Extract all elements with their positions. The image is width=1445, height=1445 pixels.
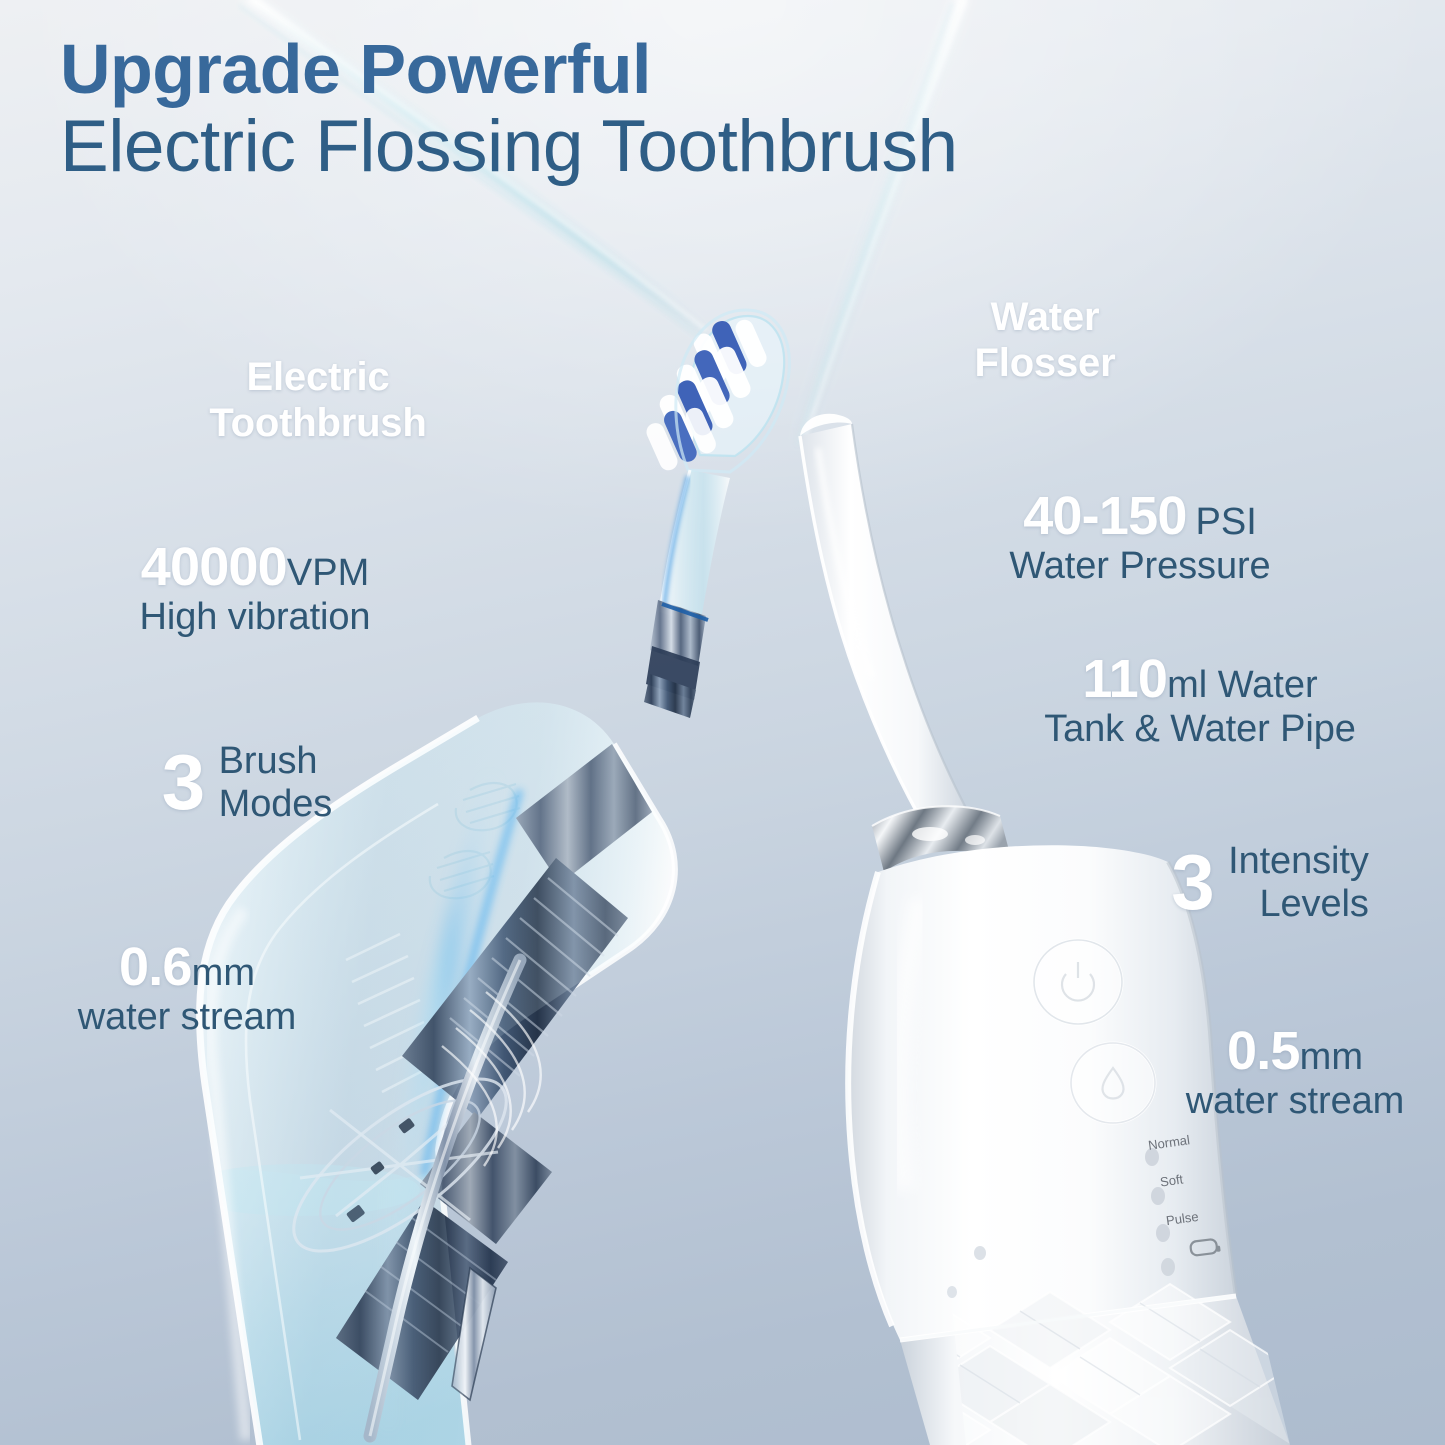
toothbrush-label-line1: Electric [128, 355, 508, 401]
mode-label-soft: Soft [1159, 1171, 1184, 1189]
spec-brush-modes: 3 Brush Modes [82, 740, 412, 825]
spec-intensity-desc2: Levels [1228, 883, 1369, 926]
spec-water-tank-desc: Tank & Water Pipe [1000, 708, 1400, 751]
spec-flosser-stream-desc: water stream [1150, 1080, 1440, 1123]
spec-water-tank-unit: ml Water [1167, 664, 1318, 706]
spec-water-pressure-desc: Water Pressure [945, 545, 1335, 588]
spec-flosser-stream-value: 0.5 [1227, 1021, 1300, 1081]
spec-toothbrush-stream-desc: water stream [42, 996, 332, 1039]
headline-line-2: Electric Flossing Toothbrush [60, 105, 1390, 190]
spec-water-pressure-unit: PSI [1196, 501, 1257, 543]
product-label-flosser: Water Flosser [905, 295, 1185, 386]
toothbrush-label-line2: Toothbrush [128, 401, 508, 447]
spec-water-pressure-value: 40-150 [1023, 486, 1186, 546]
spec-water-tank: 110ml Water Tank & Water Pipe [1000, 650, 1400, 751]
spec-vibration: 40000VPM High vibration [60, 538, 450, 639]
spec-flosser-stream-unit: mm [1300, 1036, 1363, 1078]
headline-line-1: Upgrade Powerful [60, 34, 1390, 105]
spec-brush-modes-value: 3 [162, 747, 204, 817]
spec-brush-modes-desc2: Modes [219, 783, 333, 826]
spec-vibration-unit: VPM [287, 552, 369, 594]
spec-toothbrush-stream-value: 0.6 [119, 937, 192, 997]
page-title: Upgrade Powerful Electric Flossing Tooth… [60, 34, 1390, 190]
flosser-label-line1: Water [905, 295, 1185, 341]
spec-vibration-value: 40000 [141, 537, 287, 597]
spec-toothbrush-stream-unit: mm [192, 952, 255, 994]
spec-brush-modes-desc1: Brush [219, 740, 333, 783]
spec-toothbrush-stream: 0.6mm water stream [42, 938, 332, 1039]
spec-flosser-stream: 0.5mm water stream [1150, 1022, 1440, 1123]
spec-intensity-value: 3 [1171, 847, 1213, 917]
product-infographic: Normal Soft Pulse Upgrade Powerful Elect… [0, 0, 1445, 1445]
spec-intensity-levels: 3 Intensity Levels [1110, 840, 1430, 925]
spec-water-tank-value: 110 [1082, 649, 1167, 709]
spec-intensity-desc1: Intensity [1228, 840, 1369, 883]
flosser-label-line2: Flosser [905, 341, 1185, 387]
product-label-toothbrush: Electric Toothbrush [128, 355, 508, 446]
spec-water-pressure: 40-150PSI Water Pressure [945, 487, 1335, 588]
spec-vibration-desc: High vibration [60, 596, 450, 639]
